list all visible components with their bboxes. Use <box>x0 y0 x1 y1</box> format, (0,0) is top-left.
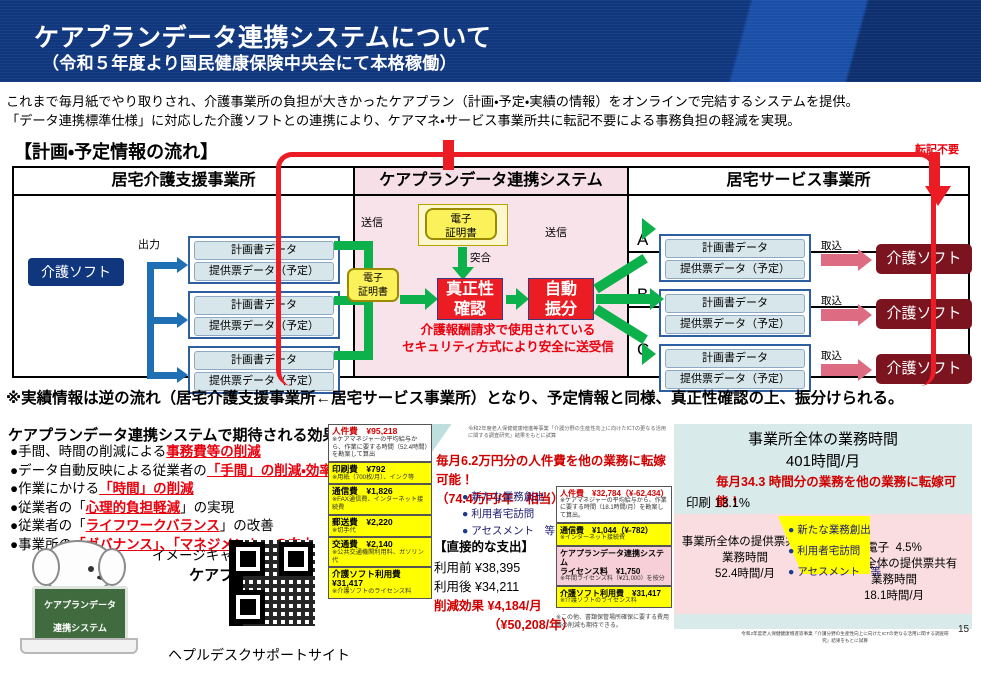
flow-section-title: 【計画・予定情報の流れ】 <box>14 138 218 164</box>
table-row: 介護ソフト利用費 ¥31,417 ※介護ソフトのライセンス料 <box>556 586 672 608</box>
plan-data-row: 計画書データ <box>194 241 334 260</box>
right-care-software-1: 介護ソフト <box>876 244 972 274</box>
import-arrow-icon-1 <box>821 254 859 266</box>
list-item: ● 新たな業務創出 <box>788 520 881 541</box>
cost-after-tail-note: ※この他、書類保管場所確保に要する費用等の削減も期待できる。 <box>556 614 672 630</box>
distribute-line1: 自動 <box>545 281 577 298</box>
cost-row-note: ※インターネット接続費 <box>560 535 668 542</box>
fan-arrow-b-head <box>650 288 664 310</box>
list-item: ●従業者の「ライフワークバランス」の改善 <box>10 517 346 536</box>
import-label-1: 取込 <box>821 238 842 253</box>
security-note-line2: セキュリティ方式により安全に送受信 <box>402 340 614 354</box>
cost-row-title: 人件費 ¥95,218 <box>332 427 428 436</box>
table-row: 交通費 ¥2,140 ※公共交通機関利用料、ガソリン代 <box>328 537 432 567</box>
cert-large-line2: 証明書 <box>445 227 477 239</box>
provision-data-row: 提供票データ（予定） <box>194 317 334 336</box>
effect-pre: ●従業者の「 <box>10 500 86 515</box>
distribute-line2: 振分 <box>545 301 577 318</box>
effect-pre: ●手間、時間の削減による <box>10 444 166 459</box>
red-loop-left-stub <box>443 140 454 170</box>
effect-highlight: 「時間」の削減 <box>99 481 194 496</box>
column-header-right: 居宅サービス事業所 <box>629 168 968 196</box>
cost-row-title: ケアプランデータ連携システム <box>560 549 668 567</box>
effect-highlight: ライフワークバランス <box>86 518 220 533</box>
green-feed-3 <box>334 351 368 360</box>
hours-title: 事業所全体の業務時間 <box>674 428 972 449</box>
direct-before-label: 利用前 <box>434 561 472 575</box>
verify-authenticity-box: 真正性 確認 <box>437 278 503 320</box>
plan-data-row: 計画書データ <box>194 296 334 315</box>
den-percent-value: 4.5% <box>896 542 922 554</box>
fan-arrow-b <box>596 294 658 304</box>
column-header-center: ケアプランデータ連携システム <box>353 168 629 196</box>
column-header-left: 居宅介護支援事業所 <box>14 168 353 196</box>
left-bus-branch-2 <box>147 317 179 324</box>
qr-finder-tr-icon <box>279 542 313 576</box>
dog-ear-right-icon <box>98 548 126 586</box>
cost-row-title: 人件費 ¥32,784（¥-62,434） <box>560 489 668 498</box>
effect-pre: ●データ自動反映による従業者の <box>10 463 207 478</box>
send-out-label: 送信 <box>545 224 567 240</box>
laptop-base-icon <box>20 638 138 654</box>
fan-arrow-c-head <box>642 343 656 365</box>
send-in-label: 送信 <box>361 214 383 230</box>
cert-large-line1: 電子 <box>451 213 472 225</box>
table-row: 人件費 ¥32,784（¥-62,434） ※ケアマネジャーの平均給与から、作業… <box>556 486 672 523</box>
provision-data-row: 提供票データ（予定） <box>665 260 805 279</box>
cost-row-note: ※介護ソフトのライセンス料 <box>332 588 428 596</box>
cost-row-title: 交通費 ¥2,140 <box>332 540 428 549</box>
lead-paragraph: これまで毎月紙でやり取りされ、介護事業所の負担が大きかったケアプラン（計画・予定… <box>6 92 975 130</box>
provision-data-row: 提供票データ（予定） <box>194 262 334 281</box>
savings-headline-line1: 毎月6.2万円分の人件費を他の業務に転嫁可能！ <box>436 454 666 487</box>
list-item: ● 利用者宅訪問 <box>788 541 881 562</box>
table-row: 印刷費 ¥792 ※用紙（700枚/月）、インク等 <box>328 462 432 485</box>
import-arrow-head-2 <box>858 304 872 326</box>
list-item: ●従業者の「心理的負担軽減」の実現 <box>10 499 346 518</box>
output-label: 出力 <box>138 236 160 252</box>
certificate-large-badge: 電子 証明書 <box>425 208 497 240</box>
table-row: 通信費 ¥1,826 ※FAX通信費、インターネット接続費 <box>328 484 432 514</box>
right-data-card-1: 計画書データ 提供票データ（予定） <box>659 234 811 282</box>
cost-row-title: 介護ソフト利用費 ¥31,417 <box>560 589 668 598</box>
hours-before-line3: 52.4時間/月 <box>715 568 775 580</box>
cost-row-value: ライセンス料 ¥1,750 <box>560 567 668 576</box>
effect-pre: ●作業にかける <box>10 481 99 496</box>
security-note: 介護報酬請求で使用されている セキュリティ方式により安全に送受信 <box>383 322 633 356</box>
list-item: ● アセスメント 等 <box>788 562 881 583</box>
match-label: 突合 <box>470 250 491 265</box>
bullet-text: 利用者宅訪問 <box>797 545 860 557</box>
import-arrow-icon-2 <box>821 309 859 321</box>
left-data-card-1: 計画書データ 提供票データ（予定） <box>188 236 340 284</box>
slide-root: ケアプランデータ連携システムについて （令和５年度より国民健康保険中央会にて本格… <box>0 0 981 673</box>
hours-total: 401時間/月 <box>674 450 972 471</box>
qr-code[interactable] <box>229 540 315 626</box>
cert-small-line1: 電子 <box>363 273 383 284</box>
effect-highlight: 心理的負担軽減 <box>86 500 181 515</box>
left-data-card-2: 計画書データ 提供票データ（予定） <box>188 291 340 339</box>
right-pane: A B C 計画書データ 提供票データ（予定） 計画書データ 提供票データ（予定… <box>629 196 968 376</box>
left-bus-branch-3 <box>147 372 179 379</box>
page-number: 15 <box>958 624 969 635</box>
dog-eye-left-icon <box>88 566 94 572</box>
print-percent: 印刷 13.1% <box>686 492 750 511</box>
import-arrow-icon-3 <box>821 364 859 376</box>
red-arrow-head-icon <box>925 186 951 206</box>
table-row: 郵送費 ¥2,220 ※切手代 <box>328 515 432 538</box>
cost-row-title: 通信費 ¥1,044（¥-782） <box>560 526 668 535</box>
effect-pre: ●従業者の「 <box>10 518 86 533</box>
lead-line-1: これまで毎月紙でやり取りされ、介護事業所の負担が大きかったケアプラン（計画・予定… <box>6 92 975 111</box>
laptop-text-line1: ケアプランデータ <box>35 589 125 612</box>
certificate-small-badge: 電子 証明書 <box>347 268 399 302</box>
plan-data-row: 計画書データ <box>665 294 805 313</box>
table-row: 人件費 ¥95,218 ※ケアマネジャーの平均給与から、作業に要する時間（52.… <box>328 424 432 462</box>
print-percent-label: 印刷 <box>686 496 711 510</box>
green-into-verify <box>400 295 426 304</box>
direct-effect-value: ¥4,184/月 <box>488 599 542 613</box>
effect-highlight: 「手間」の削減・効率化 <box>207 463 347 478</box>
cost-row-note: ※年間ライセンス料（¥21,000）を按分 <box>560 576 668 583</box>
table-row: 通信費 ¥1,044（¥-782） ※インターネット接続費 <box>556 523 672 545</box>
cost-row-note: ※ケアマネジャーの平均給与から、作業に要する時間（52.4時間）を勘案して算出 <box>332 436 428 459</box>
table-row: 介護ソフト利用費 ¥31,417 ※介護ソフトのライセンス料 <box>328 567 432 599</box>
bullet-text: アセスメント 等 <box>471 525 555 537</box>
work-hours-panel: 事業所全体の業務時間 401時間/月 毎月34.3 時間分の業務を他の業務に転嫁… <box>674 424 972 629</box>
right-data-card-2: 計画書データ 提供票データ（予定） <box>659 289 811 337</box>
plan-data-row: 計画書データ <box>665 239 805 258</box>
import-label-2: 取込 <box>821 293 842 308</box>
hours-headline-line1: 毎月34.3 時間分の業務を他の業務に転嫁可能！ <box>716 475 956 509</box>
cost-row-note: ※FAX通信費、インターネット接続費 <box>332 496 428 511</box>
effect-post: 」の改善 <box>220 518 274 533</box>
left-bus-branch-1 <box>147 262 179 269</box>
cost-row-title: 郵送費 ¥2,220 <box>332 518 428 527</box>
right-care-software-3: 介護ソフト <box>876 354 972 384</box>
plan-data-row: 計画書データ <box>194 351 334 370</box>
direct-effect-label: 削減効果 <box>434 599 484 613</box>
cost-row-note: ※公共交通機関利用料、ガソリン代 <box>332 549 428 564</box>
page-subtitle: （令和５年度より国民健康保険中央会にて本格稼働） <box>42 49 457 74</box>
hours-before-line2: 業務時間 <box>722 552 768 564</box>
bullet-text: アセスメント 等 <box>797 566 881 578</box>
source-note: 令和2年度老人保健健康増進等事業「介護分野の生産性向上に向けたICTの更なる活用… <box>468 426 668 440</box>
cost-row-title: 印刷費 ¥792 <box>332 465 428 474</box>
slide-header: ケアプランデータ連携システムについて （令和５年度より国民健康保険中央会にて本格… <box>0 0 981 82</box>
security-note-line1: 介護報酬請求で使用されている <box>421 323 596 337</box>
cost-before-table: 人件費 ¥95,218 ※ケアマネジャーの平均給与から、作業に要する時間（52.… <box>328 424 432 599</box>
left-arrow-icon-3 <box>177 367 188 383</box>
right-data-card-3: 計画書データ 提供票データ（予定） <box>659 344 811 392</box>
bullet-text: 新たな業務創出 <box>797 524 871 536</box>
footer-citation: 令和2年度老人保健健康増進等事業「介護分野の生産性向上に向けたICTの更なる活用… <box>740 630 950 644</box>
direct-before-value: ¥38,395 <box>475 561 520 575</box>
lead-line-2: 「データ連携標準仕様」に対応した介護ソフトとの連携により、ケアマネ・サービス事業… <box>6 111 975 130</box>
import-arrow-head-1 <box>858 249 872 271</box>
left-arrow-icon-1 <box>177 257 188 273</box>
laptop-screen-icon: ケアプランデータ 連携システム <box>32 586 128 644</box>
reverse-flow-note: ※実績情報は逆の流れ（居宅介護支援事業所←居宅サービス事業所）となり、予定情報と… <box>6 386 981 408</box>
left-care-software: 介護ソフト <box>28 258 124 286</box>
cost-row-note: ※切手代 <box>332 527 428 535</box>
helpdesk-link-label[interactable]: ヘプルデスクサポートサイト <box>168 645 350 665</box>
fan-arrow-a-head <box>642 218 656 240</box>
plan-data-row: 計画書データ <box>665 349 805 368</box>
provision-data-row: 提供票データ（予定） <box>665 315 805 334</box>
list-item: ●データ自動反映による従業者の「手間」の削減・効率化 <box>10 462 346 481</box>
bullet-text: 新たな業務創出 <box>471 491 545 503</box>
direct-after-label: 利用後 <box>434 580 472 594</box>
cost-row-value: ¥31,417 <box>332 579 428 588</box>
qr-finder-bl-icon <box>231 590 265 624</box>
list-item: ● 利用者宅訪問 <box>462 506 555 523</box>
hours-reuse-bullets: ● 新たな業務創出 ● 利用者宅訪問 ● アセスメント 等 <box>788 520 881 583</box>
laptop-text-line2: 連携システム <box>35 612 125 635</box>
table-row: ケアプランデータ連携システム ライセンス料 ¥1,750 ※年間ライセンス料（¥… <box>556 546 672 586</box>
cost-row-note: ※ケアマネジャーの平均給与から、作業に要する時間（18.1時間/月）を勘案して算… <box>560 498 668 520</box>
green-feed-1 <box>334 241 368 250</box>
qr-finder-tl-icon <box>231 542 265 576</box>
left-arrow-icon-2 <box>177 312 188 328</box>
list-item: ● 新たな業務創出 <box>462 489 555 506</box>
cert-arrow-shaft <box>458 247 467 269</box>
cost-after-table: 人件費 ¥32,784（¥-62,434） ※ケアマネジャーの平均給与から、作業… <box>556 486 672 608</box>
cost-row-note: ※用紙（700枚/月）、インク等 <box>332 474 428 482</box>
list-item: ●作業にかける「時間」の削減 <box>10 480 346 499</box>
print-percent-value: 13.1% <box>715 496 750 510</box>
hours-after-line3: 18.1時間/月 <box>864 590 924 602</box>
auto-distribute-box: 自動 振分 <box>528 278 594 320</box>
import-arrow-head-3 <box>858 359 872 381</box>
direct-after-value: ¥34,211 <box>475 580 519 594</box>
cost-reuse-bullets: ● 新たな業務創出 ● 利用者宅訪問 ● アセスメント 等 <box>462 489 555 540</box>
effect-post: 」の実現 <box>180 500 234 515</box>
effects-title: ケアプランデータ連携システムで期待される効果 <box>8 424 338 445</box>
cert-small-line2: 証明書 <box>358 287 388 298</box>
mascot-illustration: ケアプランデータ 連携システム <box>14 538 144 650</box>
verify-line1: 真正性 <box>446 281 494 298</box>
import-label-3: 取込 <box>821 348 842 363</box>
verify-line2: 確認 <box>454 301 486 318</box>
cost-row-note: ※介護ソフトのライセンス料 <box>560 598 668 605</box>
bullet-text: 利用者宅訪問 <box>471 508 534 520</box>
left-pane: 介護ソフト 出力 計画書データ 提供票データ（予定） 計画書データ 提供票データ… <box>14 196 353 376</box>
list-item: ●手間、時間の削減による事務費等の削減 <box>10 443 346 462</box>
right-care-software-2: 介護ソフト <box>876 299 972 329</box>
effect-highlight: 事務費等の削減 <box>166 444 261 459</box>
dog-ear-left-icon <box>32 548 60 586</box>
